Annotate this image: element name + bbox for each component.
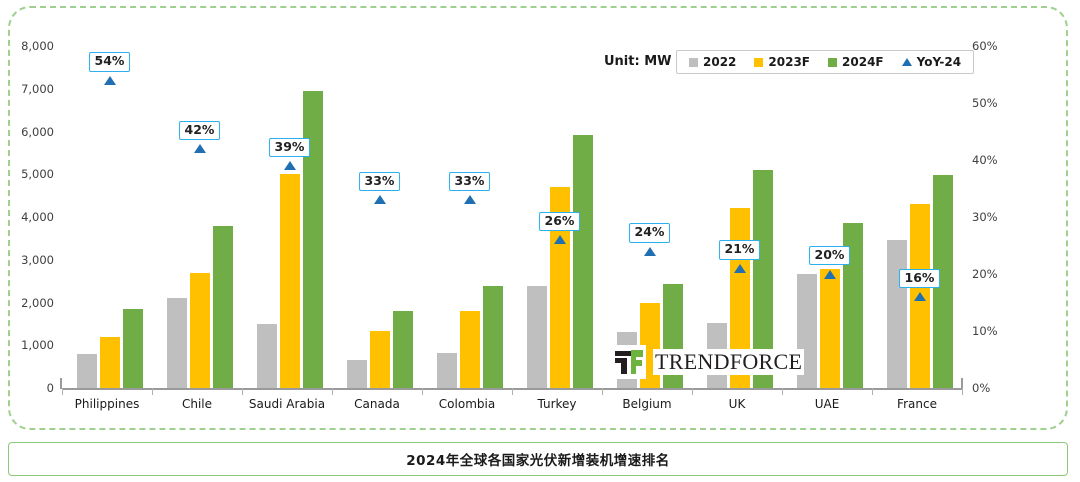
- x-axis-tick: [782, 388, 783, 395]
- bar-group: [77, 46, 146, 388]
- x-axis-label-belgium: Belgium: [622, 397, 671, 411]
- y-axis-right-tick: 40%: [972, 153, 1018, 167]
- x-axis-label-canada: Canada: [354, 397, 400, 411]
- unit-label: Unit: MW: [604, 54, 671, 69]
- bar-2022: [527, 286, 547, 388]
- x-axis-label-uk: UK: [729, 397, 746, 411]
- y-axis-left-tick: 5,000: [2, 167, 54, 181]
- x-axis-label-turkey: Turkey: [537, 397, 576, 411]
- yoy-data-label: 39%: [269, 138, 311, 157]
- legend-item-2022[interactable]: 2022: [689, 55, 736, 69]
- y-axis-right-tick: 50%: [972, 96, 1018, 110]
- legend-item-2024f[interactable]: 2024F: [828, 55, 884, 69]
- x-axis-tick: [692, 388, 693, 395]
- caption-box: 2024年全球各国家光伏新增装机增速排名: [8, 442, 1068, 476]
- legend-label: 2024F: [842, 55, 884, 69]
- bar-2024f: [123, 309, 143, 388]
- y-axis-left-tick: 6,000: [2, 125, 54, 139]
- yoy-marker: [824, 270, 836, 279]
- yoy-marker: [464, 195, 476, 204]
- y-axis-right-tick: 30%: [972, 210, 1018, 224]
- yoy-data-label: 26%: [539, 212, 581, 231]
- y-axis-left-tick: 4,000: [2, 210, 54, 224]
- bar-2022: [167, 298, 187, 388]
- bar-group: [167, 46, 236, 388]
- chart-legend: 20222023F2024FYoY-24: [676, 50, 974, 74]
- yoy-marker: [284, 161, 296, 170]
- y-axis-right-tick: 60%: [972, 39, 1018, 53]
- bar-group: [437, 46, 506, 388]
- bar-2024f: [573, 135, 593, 389]
- bar-2023f: [370, 331, 390, 388]
- bar-2024f: [483, 286, 503, 388]
- yoy-data-label: 16%: [899, 269, 941, 288]
- caption-text: 2024年全球各国家光伏新增装机增速排名: [406, 449, 670, 469]
- bar-group: [347, 46, 416, 388]
- legend-item-yoy-24[interactable]: YoY-24: [902, 55, 961, 69]
- bar-group: [257, 46, 326, 388]
- y-axis-left-tick: 2,000: [2, 296, 54, 310]
- x-axis-label-chile: Chile: [182, 397, 212, 411]
- legend-swatch-icon: [689, 58, 698, 67]
- bar-2022: [257, 324, 277, 388]
- x-axis-label-colombia: Colombia: [439, 397, 495, 411]
- y-axis-right-tick: 10%: [972, 324, 1018, 338]
- x-axis-tick: [512, 388, 513, 395]
- x-axis-tick: [872, 388, 873, 395]
- y-axis-left-tick: 3,000: [2, 253, 54, 267]
- x-axis-tick: [332, 388, 333, 395]
- yoy-marker: [104, 76, 116, 85]
- y-axis-right-tick: 20%: [972, 267, 1018, 281]
- bar-2023f: [460, 311, 480, 388]
- y-axis-left-tick: 0: [2, 381, 54, 395]
- yoy-data-label: 54%: [89, 52, 131, 71]
- yoy-data-label: 24%: [629, 223, 671, 242]
- yoy-marker: [194, 144, 206, 153]
- chart-page: 01,0002,0003,0004,0005,0006,0007,0008,00…: [0, 0, 1080, 482]
- yoy-marker: [734, 264, 746, 273]
- y-axis-left-tick: 7,000: [2, 82, 54, 96]
- bar-2022: [77, 354, 97, 388]
- x-axis-label-saudi-arabia: Saudi Arabia: [249, 397, 325, 411]
- bar-2022: [887, 240, 907, 388]
- x-axis-tick: [62, 388, 63, 395]
- yoy-data-label: 21%: [719, 240, 761, 259]
- x-axis-tick: [962, 388, 963, 395]
- bar-2024f: [213, 226, 233, 388]
- legend-label: 2023F: [768, 55, 810, 69]
- bar-2023f: [190, 273, 210, 388]
- legend-triangle-icon: [902, 58, 912, 66]
- yoy-marker: [554, 235, 566, 244]
- yoy-data-label: 33%: [359, 172, 401, 191]
- x-axis-tick: [602, 388, 603, 395]
- legend-label: YoY-24: [917, 55, 961, 69]
- bar-2023f: [100, 337, 120, 388]
- bar-group: [887, 46, 956, 388]
- legend-item-2023f[interactable]: 2023F: [754, 55, 810, 69]
- bar-group: [707, 46, 776, 388]
- bar-group: [797, 46, 866, 388]
- bar-2023f: [280, 174, 300, 388]
- bar-2022: [347, 360, 367, 388]
- yoy-data-label: 20%: [809, 246, 851, 265]
- y-axis-left-tick: 8,000: [2, 39, 54, 53]
- yoy-marker: [644, 247, 656, 256]
- x-axis-label-uae: UAE: [815, 397, 840, 411]
- legend-swatch-icon: [828, 58, 837, 67]
- plot-area: [62, 46, 962, 388]
- bar-2022: [437, 353, 457, 388]
- trendforce-wordmark: TRENDFORCE: [653, 349, 804, 375]
- x-axis-label-philippines: Philippines: [75, 397, 140, 411]
- yoy-data-label: 33%: [449, 172, 491, 191]
- x-axis-label-france: France: [897, 397, 937, 411]
- trendforce-watermark: TRENDFORCE: [612, 345, 804, 379]
- x-axis-tick: [422, 388, 423, 395]
- yoy-data-label: 42%: [179, 121, 221, 140]
- yoy-marker: [914, 292, 926, 301]
- bar-2024f: [393, 311, 413, 388]
- y-axis-left-tick: 1,000: [2, 338, 54, 352]
- x-axis-tick: [242, 388, 243, 395]
- y-axis-right-tick: 0%: [972, 381, 1018, 395]
- bar-2023f: [820, 269, 840, 388]
- legend-swatch-icon: [754, 58, 763, 67]
- yoy-marker: [374, 195, 386, 204]
- trendforce-logo-icon: [612, 345, 646, 379]
- legend-label: 2022: [703, 55, 736, 69]
- bar-group: [617, 46, 686, 388]
- bar-2024f: [303, 91, 323, 388]
- x-axis-tick: [152, 388, 153, 395]
